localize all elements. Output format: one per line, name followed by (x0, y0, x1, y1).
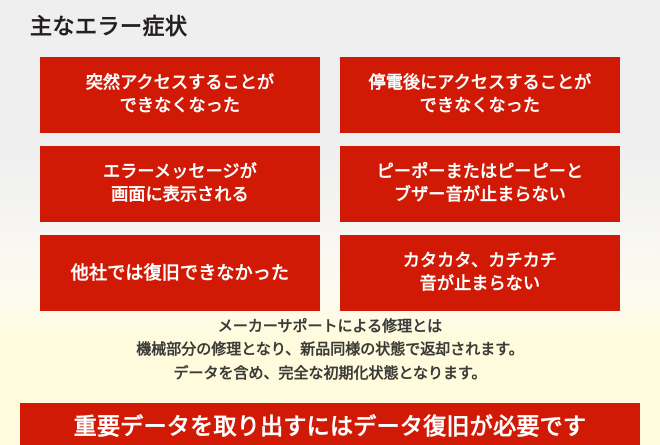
symptom-card-error-message-on-screen: エラーメッセージが 画面に表示される (40, 146, 320, 222)
explanation-line: メーカーサポートによる修理とは (0, 315, 660, 338)
symptom-card-line: ブザー音が止まらない (394, 184, 566, 207)
explanation-line: 機械部分の修理となり、新品同様の状態で返却されます。 (0, 338, 660, 361)
symptom-card-post-blackout-access-failure: 停電後にアクセスすることが できなくなった (340, 57, 620, 133)
call-to-action-banner-text: 重要データを取り出すにはデータ復旧が必要です (74, 407, 587, 441)
symptom-card-buzzer-sound-continues: ピーポーまたはピーピーと ブザー音が止まらない (340, 146, 620, 222)
symptom-card-line: 他社では復旧できなかった (71, 261, 289, 285)
symptom-card-line: カタカタ、カチカチ (403, 250, 557, 273)
symptom-card-line: 画面に表示される (111, 184, 249, 207)
symptom-card-line: 停電後にアクセスすることが (369, 72, 592, 95)
page-title: 主なエラー症状 (30, 14, 188, 40)
symptom-card-line: できなくなった (420, 95, 540, 118)
symptom-card-line: ピーポーまたはピーピーと (377, 161, 583, 184)
symptom-card-line: エラーメッセージが (103, 161, 257, 184)
symptom-card-sudden-access-failure: 突然アクセスすることが できなくなった (40, 57, 320, 133)
manufacturer-repair-explanation: メーカーサポートによる修理とは 機械部分の修理となり、新品同様の状態で返却されま… (0, 315, 660, 385)
explanation-line: データを含め、完全な初期化状態となります。 (0, 362, 660, 385)
symptom-card-line: 音が止まらない (420, 273, 540, 296)
symptom-card-line: 突然アクセスすることが (86, 72, 274, 95)
symptom-card-line: できなくなった (120, 95, 240, 118)
call-to-action-banner: 重要データを取り出すにはデータ復旧が必要です (20, 403, 640, 445)
symptom-card-other-company-recovery-failed: 他社では復旧できなかった (40, 235, 320, 311)
symptom-card-grid: 突然アクセスすることが できなくなった 停電後にアクセスすることが できなくなっ… (40, 57, 620, 311)
symptom-card-clicking-noise-continues: カタカタ、カチカチ 音が止まらない (340, 235, 620, 311)
infographic-page: 主なエラー症状 突然アクセスすることが できなくなった 停電後にアクセスすること… (0, 0, 660, 445)
